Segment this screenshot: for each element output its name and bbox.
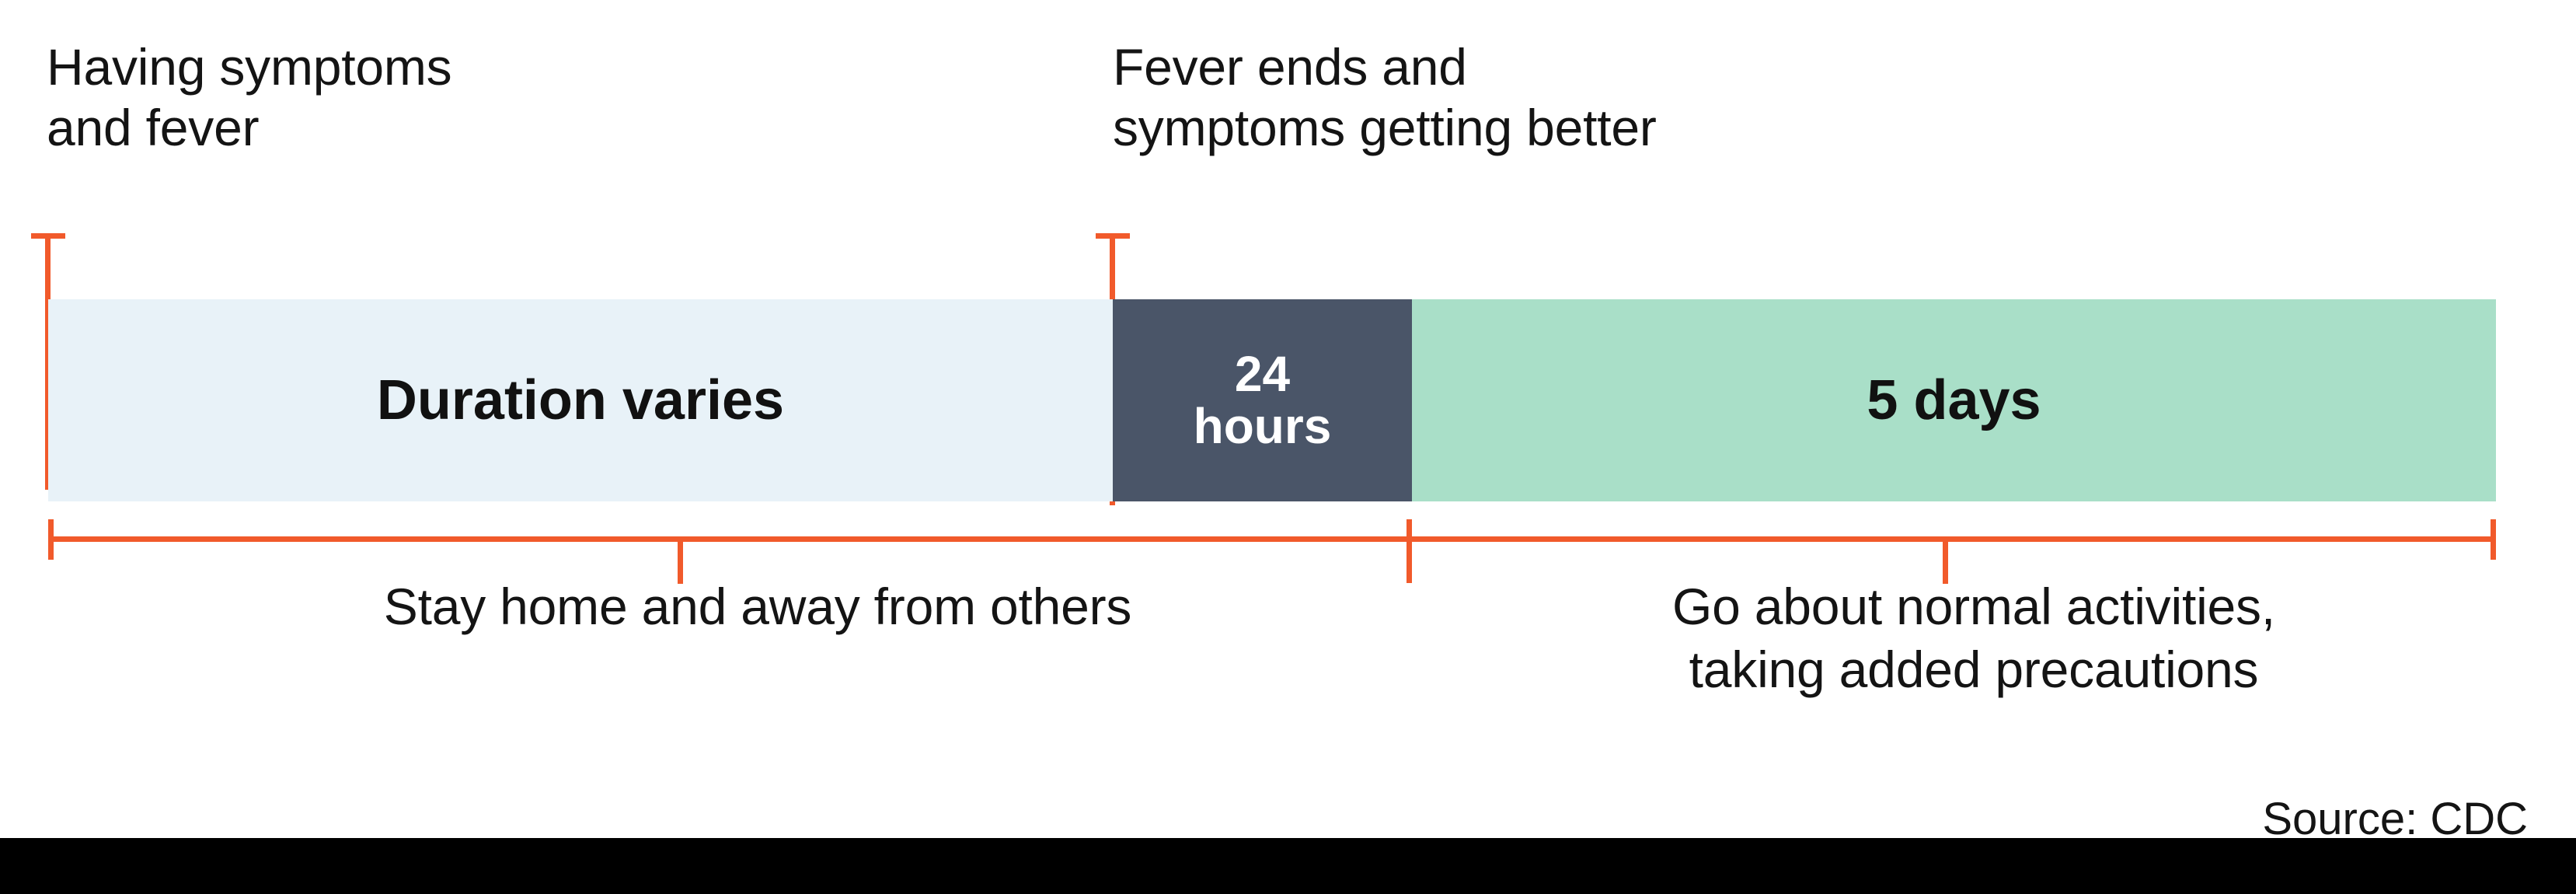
caption-normal-activities: Go about normal activities, taking added… (1391, 575, 2557, 700)
label-having-symptoms-and-fever: Having symptoms and fever (47, 37, 452, 159)
tick-start-upper-cap (31, 233, 65, 239)
label-fever-ends-symptoms-better: Fever ends and symptoms getting better (1113, 37, 1657, 159)
source-note: Source: CDC (2262, 793, 2528, 845)
bottom-letterbox-band (0, 838, 2576, 894)
axis-tick-midpoint (1407, 519, 1412, 583)
axis-tick-start (48, 519, 54, 560)
timeline-bar: Duration varies 24 hours 5 days (48, 299, 2496, 501)
tick-fever-end-upper-cap (1096, 233, 1130, 239)
bar-segment-duration-varies: Duration varies (48, 299, 1113, 501)
diagram-canvas: Having symptoms and fever Fever ends and… (0, 0, 2576, 894)
caption-stay-home: Stay home and away from others (85, 575, 1430, 638)
axis-tick-end (2491, 519, 2496, 560)
bar-segment-5-days: 5 days (1412, 299, 2496, 501)
bar-segment-24-hours: 24 hours (1113, 299, 1412, 501)
axis-line (48, 536, 2496, 542)
